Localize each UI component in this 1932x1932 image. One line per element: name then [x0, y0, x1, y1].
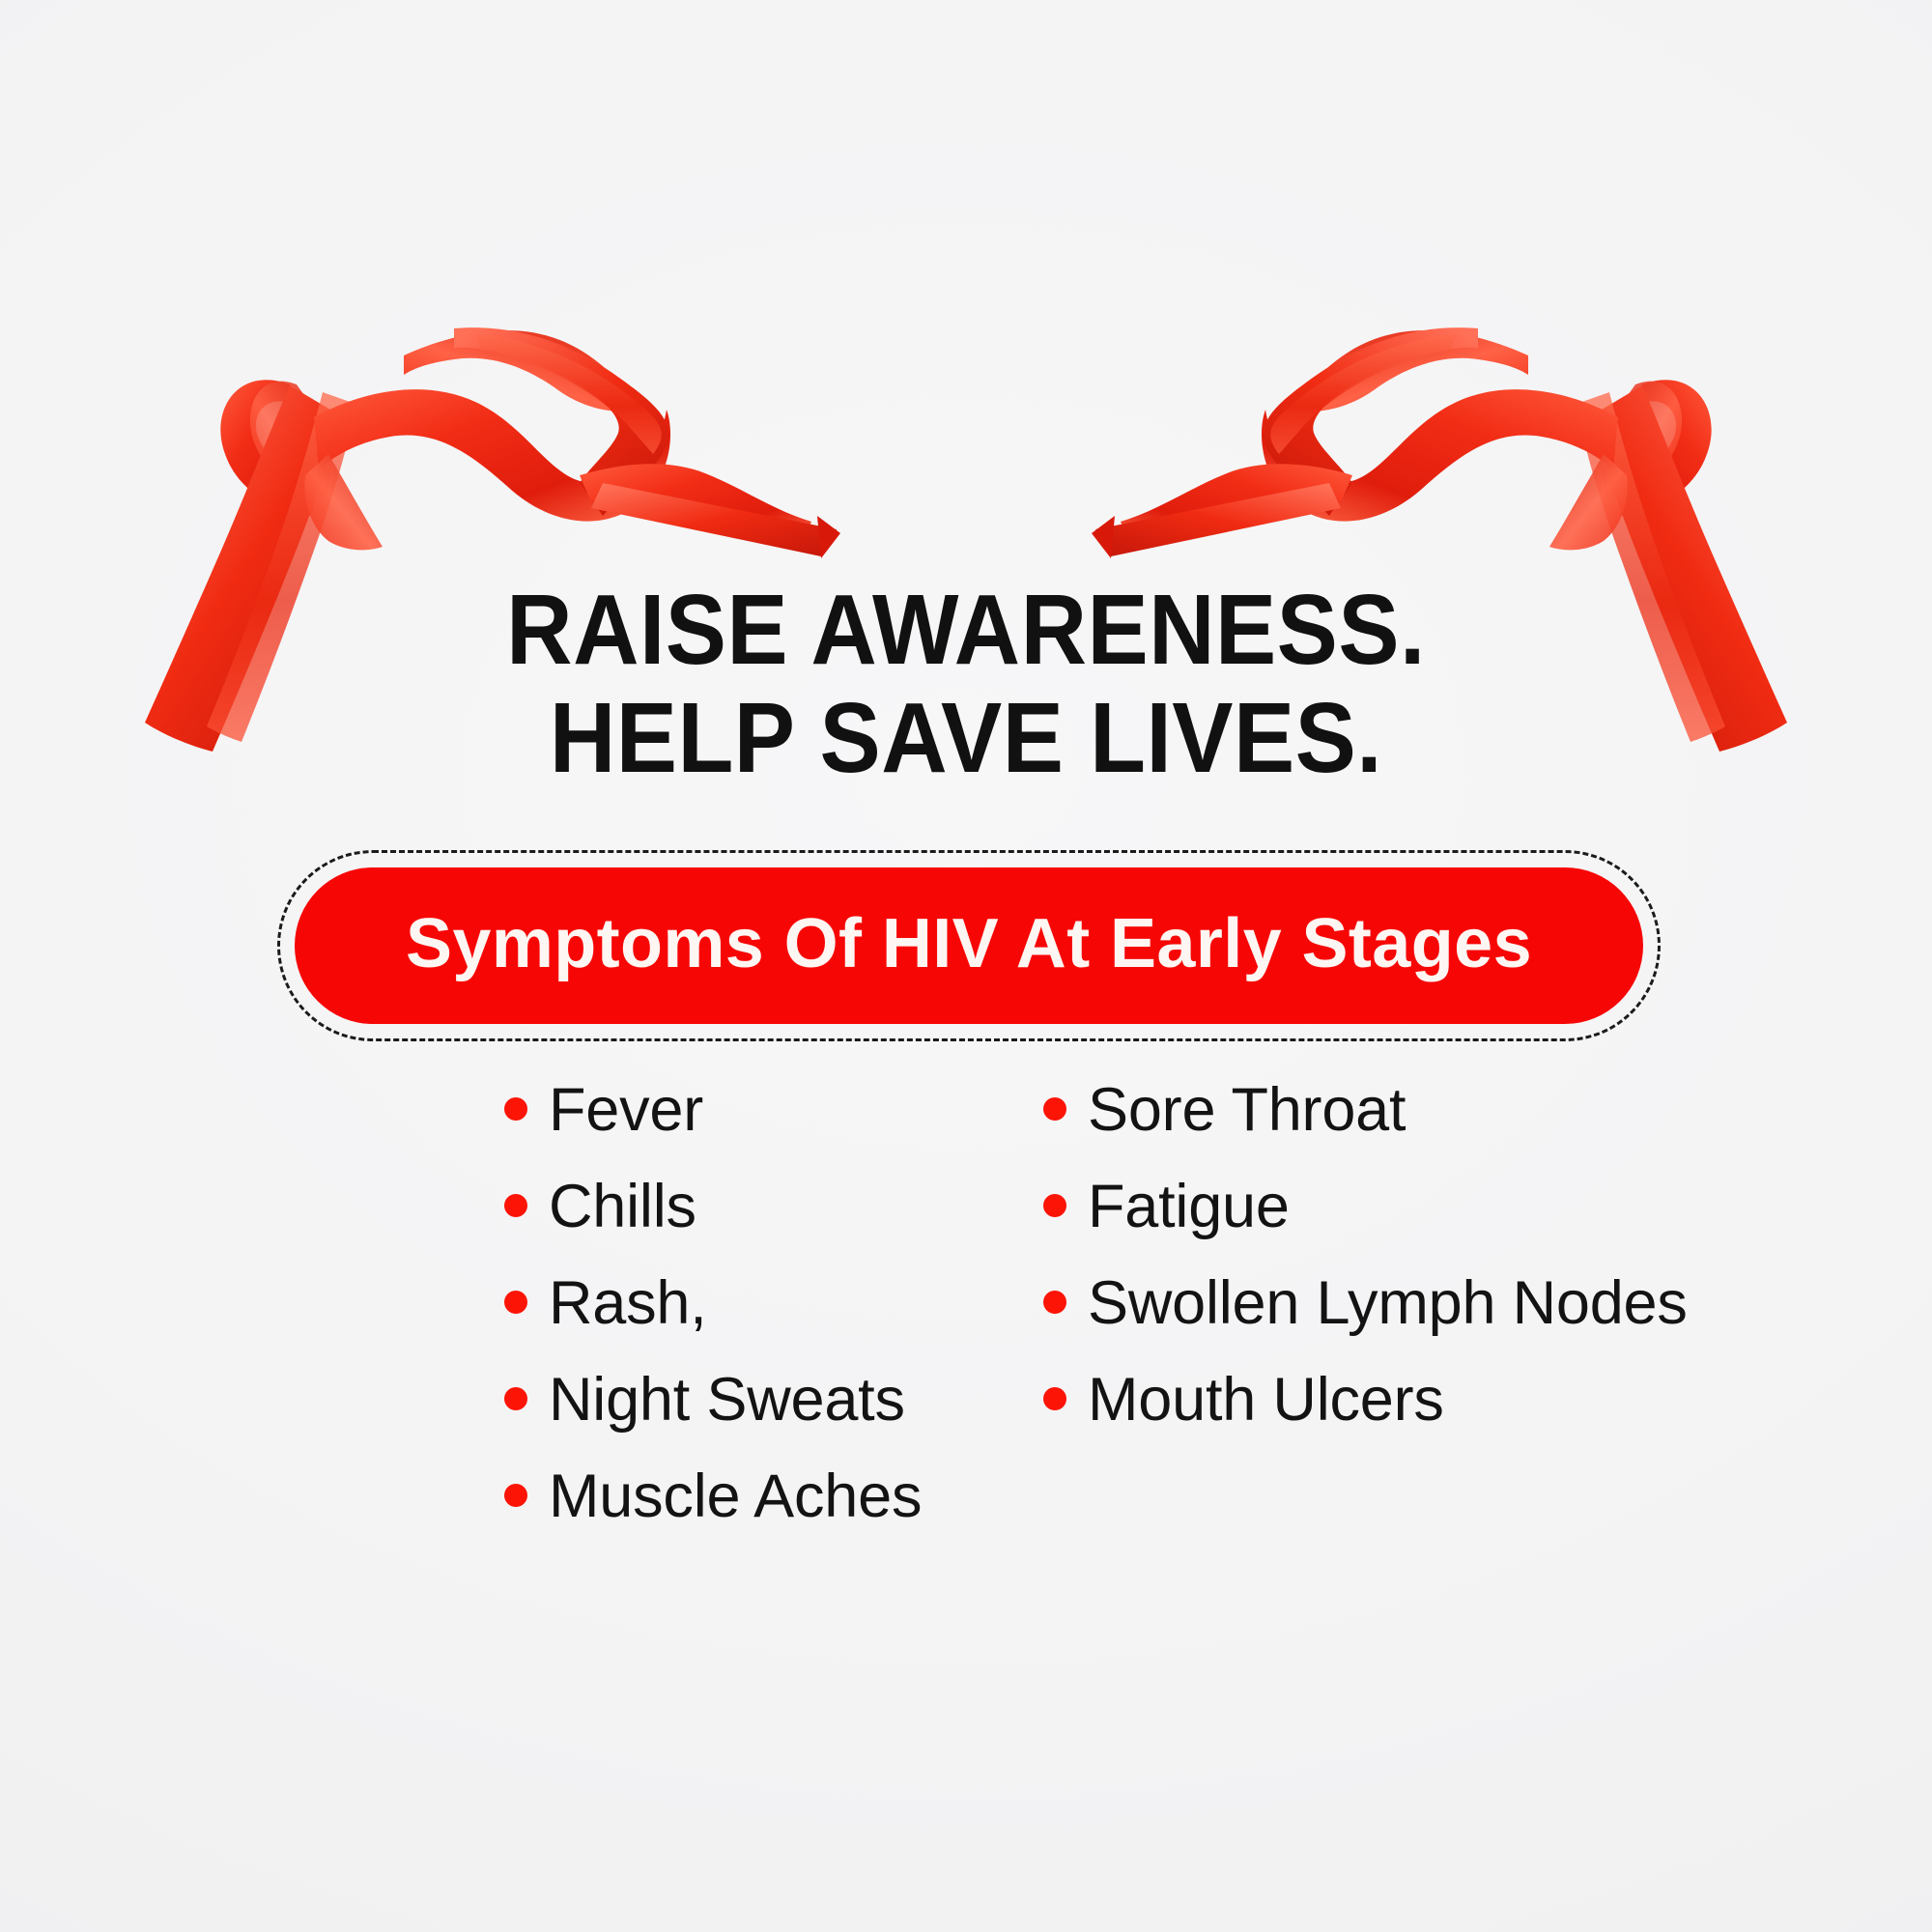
list-item: Fatigue	[1043, 1177, 1536, 1273]
list-item: Chills	[504, 1177, 937, 1273]
list-item: Fever	[504, 1080, 937, 1177]
list-item: Sore Throat	[1043, 1080, 1536, 1177]
bullet-dot-icon	[504, 1291, 527, 1314]
bullet-dot-icon	[1043, 1387, 1066, 1410]
symptom-label: Rash,	[549, 1273, 707, 1334]
symptom-label: Fatigue	[1088, 1177, 1290, 1237]
list-item: Muscle Aches	[504, 1466, 937, 1563]
page-title: RAISE AWARENESS. HELP SAVE LIVES.	[77, 576, 1855, 792]
symptoms-banner: Symptoms Of HIV At Early Stages	[277, 850, 1661, 1041]
bullet-dot-icon	[1043, 1291, 1066, 1314]
symptom-label: Sore Throat	[1088, 1080, 1406, 1141]
symptom-label: Muscle Aches	[549, 1466, 922, 1527]
symptom-label: Mouth Ulcers	[1088, 1370, 1444, 1431]
headline-line-1: RAISE AWARENESS.	[77, 576, 1855, 684]
headline-line-2: HELP SAVE LIVES.	[77, 684, 1855, 792]
bullet-dot-icon	[504, 1387, 527, 1410]
symptom-label: Fever	[549, 1080, 703, 1141]
bullet-dot-icon	[1043, 1194, 1066, 1217]
banner-title: Symptoms Of HIV At Early Stages	[406, 904, 1532, 983]
list-item: Night Sweats	[504, 1370, 937, 1466]
symptom-label: Night Sweats	[549, 1370, 905, 1431]
list-item: Swollen Lymph Nodes	[1043, 1273, 1536, 1370]
symptoms-column-left: Fever Chills Rash, Night Sweats Muscle A…	[396, 1080, 937, 1563]
poster-canvas: RAISE AWARENESS. HELP SAVE LIVES. Sympto…	[0, 0, 1932, 1932]
symptom-label: Chills	[549, 1177, 696, 1237]
symptoms-column-right: Sore Throat Fatigue Swollen Lymph Nodes …	[937, 1080, 1536, 1563]
bullet-dot-icon	[504, 1097, 527, 1121]
symptoms-list: Fever Chills Rash, Night Sweats Muscle A…	[0, 1080, 1932, 1563]
banner-pill: Symptoms Of HIV At Early Stages	[295, 867, 1643, 1024]
list-item: Mouth Ulcers	[1043, 1370, 1536, 1466]
symptom-label: Swollen Lymph Nodes	[1088, 1273, 1688, 1334]
list-item: Rash,	[504, 1273, 937, 1370]
bullet-dot-icon	[1043, 1097, 1066, 1121]
bullet-dot-icon	[504, 1484, 527, 1507]
bullet-dot-icon	[504, 1194, 527, 1217]
